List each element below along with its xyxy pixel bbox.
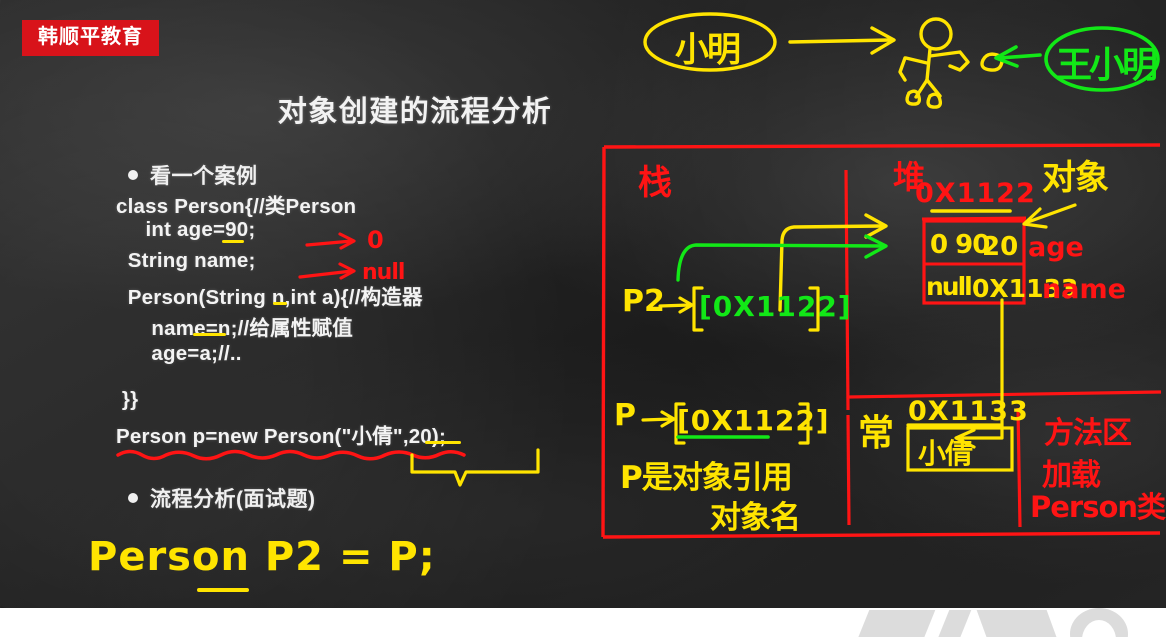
underline-param-n	[273, 302, 287, 305]
heap-field-age-value: 20	[982, 232, 1018, 262]
bullet-dot-icon	[128, 493, 138, 503]
bottom-formula-text: Person P2 = P;	[88, 534, 436, 580]
code-line-1: class Person{//类Person	[116, 189, 356, 219]
bullet-dot-icon	[128, 170, 138, 180]
underline-age-value	[222, 240, 244, 243]
brand-logo: 韩顺平教育	[22, 20, 159, 56]
stack-note-reference: P是对象引用	[620, 452, 792, 497]
annot-wangxiaoming-circled: 王小明	[1056, 36, 1155, 88]
heap-field-name-trace: null	[926, 272, 971, 301]
code-line-7: }}	[116, 388, 138, 412]
slide-title: 对象创建的流程分析	[0, 88, 830, 130]
heap-field-age-name: age	[1028, 232, 1084, 263]
stack-entry-p2-value: [0X1122]	[699, 290, 852, 323]
watermark-shape-2	[931, 610, 972, 637]
stack-label: 栈	[638, 155, 672, 204]
bottom-formula: Person P2 = P;	[88, 534, 436, 580]
constant-pool-value: 小倩	[918, 432, 972, 472]
method-area-line-person-class: Person类	[1030, 484, 1165, 526]
stack-var-p: P	[614, 398, 636, 433]
constant-pool-label: 常	[858, 404, 894, 456]
annot-age-default-zero: 0	[367, 226, 384, 254]
code-line-6: age=a;//..	[116, 342, 242, 366]
stack-entry-p-var: P	[614, 398, 636, 433]
watermark-shape-1	[851, 610, 936, 637]
slide-screenshot: 韩顺平教育 对象创建的流程分析 看一个案例 class Person{//类Pe…	[0, 0, 1166, 637]
code-line-5: name=n;//给属性赋值	[116, 311, 353, 341]
underline-bottom-p2	[197, 588, 249, 592]
stack-entry-p2-var: P2	[622, 284, 665, 319]
heap-object-caption: 对象	[1042, 150, 1108, 199]
constant-pool-address: 0X1133	[908, 396, 1029, 427]
stack-entry-p-value: [0X1122]	[677, 404, 830, 437]
bullet-label: 流程分析(面试题)	[150, 488, 316, 511]
annot-name-default-null: null	[362, 260, 404, 285]
code-line-2: int age=90;	[116, 218, 255, 242]
heap-address: 0X1122	[915, 178, 1036, 209]
bottom-white-strip	[0, 608, 1166, 637]
bullet-item-flow-analysis: 流程分析(面试题)	[128, 483, 316, 513]
code-line-3: String name;	[116, 249, 255, 273]
watermark-shape-3	[977, 610, 1064, 637]
annot-xiaoming-circled: 小明	[675, 22, 739, 71]
stack-var-p2: P2	[622, 284, 665, 319]
underline-xiaoqian-literal	[425, 441, 461, 444]
bullet-item-case: 看一个案例	[128, 160, 258, 190]
bullet-label: 看一个案例	[150, 165, 258, 188]
heap-field-age-trace: 0 90	[930, 230, 989, 260]
underline-name-field	[193, 333, 226, 336]
method-area-label: 方法区	[1044, 408, 1131, 452]
heap-field-name-name: name	[1042, 274, 1126, 305]
stack-note-object-name: 对象名	[710, 492, 800, 537]
code-line-8: Person p=new Person("小倩",20);	[116, 419, 446, 449]
